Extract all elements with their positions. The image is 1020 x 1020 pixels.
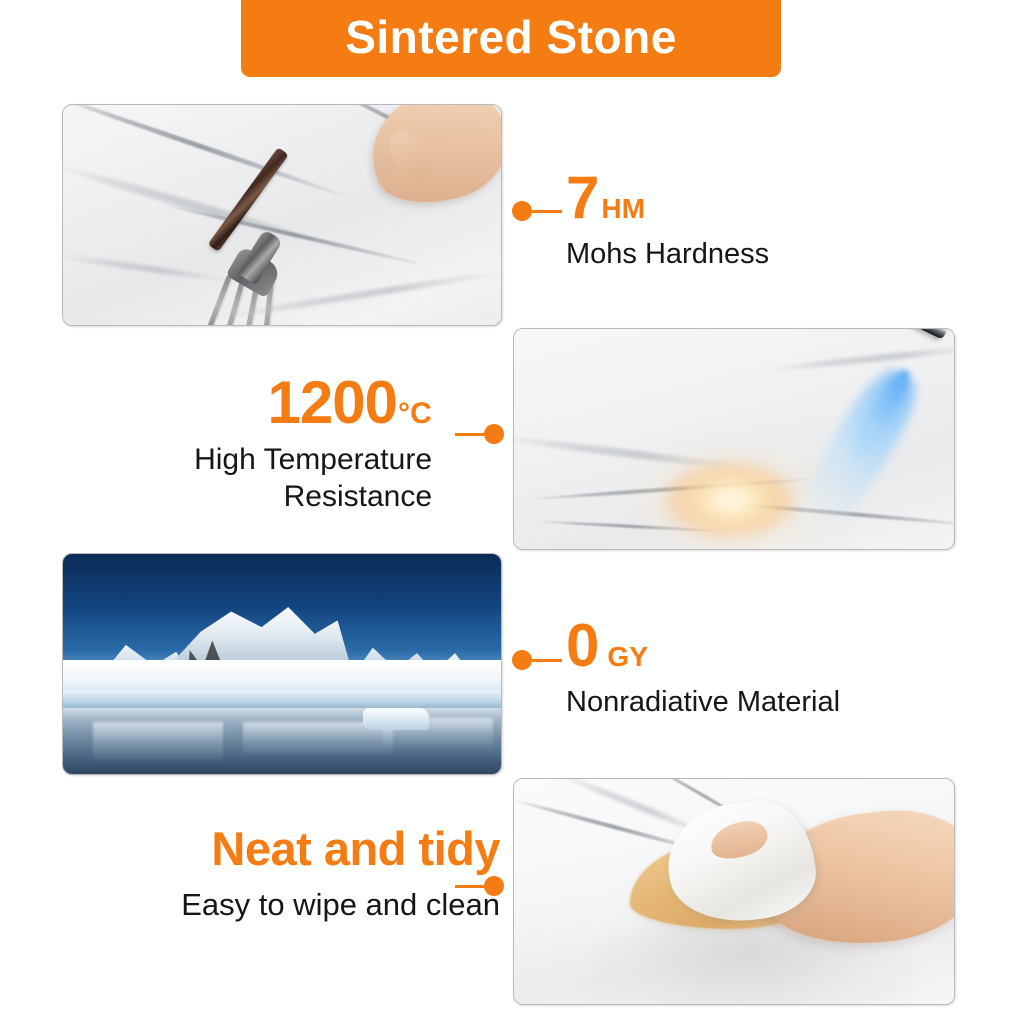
- feature-unit: GY: [607, 643, 648, 671]
- title-banner: Sintered Stone: [241, 0, 781, 77]
- connector-dot: [512, 201, 532, 221]
- feature-caption: Easy to wipe and clean: [130, 886, 500, 924]
- feature-value-line: 1200 °C: [122, 373, 432, 433]
- connector-line: [455, 433, 487, 436]
- photo-panel-high-temperature: [513, 328, 955, 550]
- feature-value-line: 0 GY: [566, 616, 840, 676]
- feature-caption-line2: Resistance: [284, 480, 432, 513]
- page-title: Sintered Stone: [345, 14, 677, 64]
- photo-panel-nonradiative: [62, 553, 502, 775]
- feature-caption: Mohs Hardness: [566, 237, 769, 272]
- photo-fork-on-marble: [63, 105, 501, 325]
- feature-caption: High Temperature Resistance: [122, 442, 432, 515]
- connector-dot: [484, 424, 504, 444]
- feature-value: Neat and tidy: [211, 825, 500, 872]
- photo-torch-on-marble: [514, 329, 954, 549]
- feature-value-line: 7 HM: [566, 168, 769, 228]
- photo-snow-mountains: [63, 554, 501, 774]
- feature-value: 7: [566, 168, 598, 228]
- infographic-page: Sintered Stone 7 HM: [0, 0, 1020, 1020]
- photo-panel-neat-and-tidy: [513, 778, 955, 1005]
- feature-value: 1200: [267, 373, 396, 433]
- connector-line: [532, 659, 562, 662]
- heat-hotspot: [664, 461, 794, 539]
- feature-nonradiative: 0 GY Nonradiative Material: [566, 616, 840, 720]
- connector-dot: [512, 650, 532, 670]
- water-reflection: [93, 722, 223, 760]
- feature-high-temperature: 1200 °C High Temperature Resistance: [122, 373, 432, 515]
- feature-unit: HM: [601, 195, 645, 223]
- photo-panel-mohs-hardness: [62, 104, 502, 326]
- feature-value: 0: [566, 616, 598, 676]
- connector-line: [532, 210, 562, 213]
- feature-neat-and-tidy: Neat and tidy Easy to wipe and clean: [130, 825, 500, 924]
- iceberg: [363, 708, 429, 730]
- feature-mohs-hardness: 7 HM Mohs Hardness: [566, 168, 769, 272]
- photo-wiping-stain: [514, 779, 954, 1004]
- feature-unit: °C: [398, 399, 432, 429]
- feature-caption-line1: High Temperature: [194, 443, 432, 476]
- feature-value-line: Neat and tidy: [130, 825, 500, 872]
- feature-caption: Nonradiative Material: [566, 685, 840, 720]
